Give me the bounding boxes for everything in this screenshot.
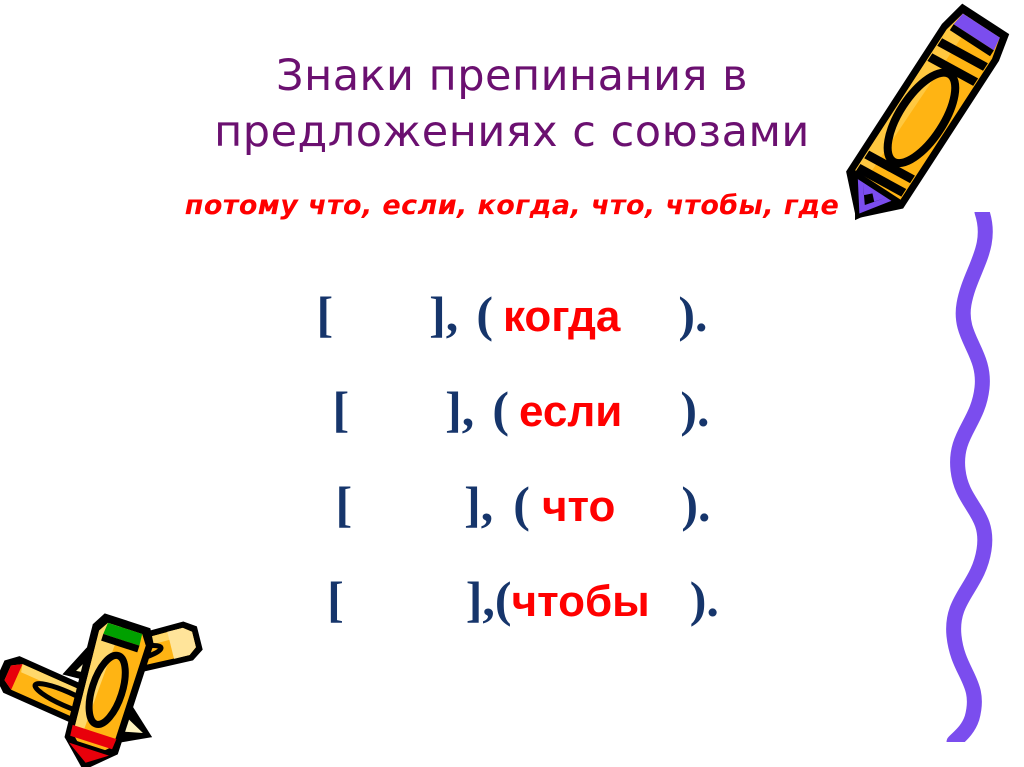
main-clause-open-bracket: [ bbox=[333, 383, 350, 435]
sub-clause-open-paren: ( bbox=[476, 288, 493, 340]
slide-canvas: Знаки препинания в предложениях с союзам… bbox=[0, 0, 1024, 767]
main-clause-open-bracket: [ bbox=[335, 478, 352, 530]
main-clause-open-bracket: [ bbox=[317, 288, 334, 340]
sub-clause-open-paren: ( bbox=[495, 573, 512, 625]
formula-list: [ ], ( когда ). [ ], ( если ). [ ], bbox=[0, 288, 1024, 668]
formula-row: [ ], ( когда ). bbox=[0, 288, 1024, 383]
formula-row: [ ], ( если ). bbox=[0, 383, 1024, 478]
sub-clause-open-paren: ( bbox=[492, 383, 509, 435]
conjunction-word: если bbox=[519, 386, 622, 438]
title-line-1: Знаки препинания в bbox=[0, 48, 1024, 104]
page-title: Знаки препинания в предложениях с союзам… bbox=[0, 48, 1024, 160]
sub-clause-open-paren: ( bbox=[513, 478, 530, 530]
main-clause-close-bracket: ], bbox=[445, 383, 474, 435]
subtitle-conjunction-list: потому что, если, когда, что, чтобы, где bbox=[0, 190, 1024, 222]
sub-clause-close-paren: ). bbox=[681, 478, 710, 530]
formula-row: [ ], ( что ). bbox=[0, 478, 1024, 573]
main-clause-close-bracket: ], bbox=[466, 573, 495, 625]
formula-row: [ ], ( чтобы ). bbox=[0, 573, 1024, 668]
conjunction-word: что bbox=[542, 481, 615, 533]
main-clause-close-bracket: ], bbox=[464, 478, 493, 530]
main-clause-close-bracket: ], bbox=[429, 288, 458, 340]
sub-clause-close-paren: ). bbox=[690, 573, 719, 625]
main-clause-open-bracket: [ bbox=[327, 573, 344, 625]
sub-clause-close-paren: ). bbox=[680, 383, 709, 435]
title-line-2: предложениях с союзами bbox=[0, 104, 1024, 160]
sub-clause-close-paren: ). bbox=[678, 288, 707, 340]
conjunction-word: чтобы bbox=[512, 576, 650, 628]
conjunction-word: когда bbox=[503, 291, 620, 343]
